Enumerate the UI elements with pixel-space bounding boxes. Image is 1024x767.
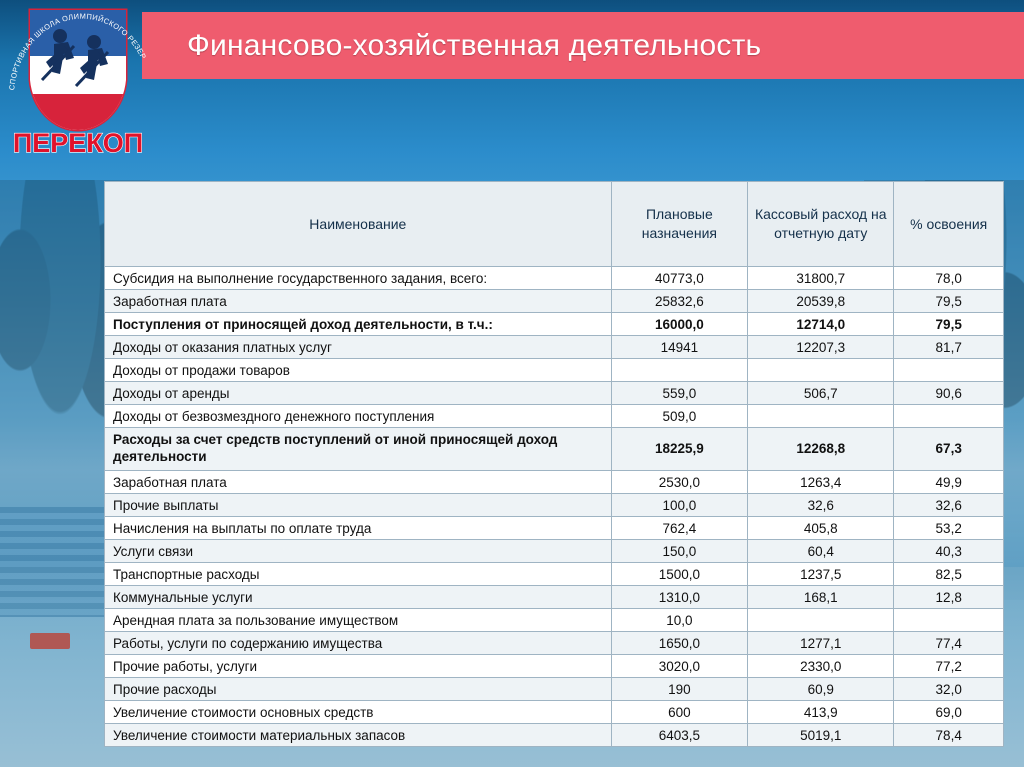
table-cell-plan: 2530,0 (611, 471, 747, 494)
column-header-name: Наименование (105, 182, 612, 267)
table-cell-name: Увеличение стоимости материальных запасо… (105, 724, 612, 747)
table-cell-pct (894, 359, 1004, 382)
table-cell-name: Увеличение стоимости основных средств (105, 701, 612, 724)
table-row: Прочие выплаты100,032,632,6 (105, 494, 1004, 517)
table-row: Арендная плата за пользование имуществом… (105, 609, 1004, 632)
table-cell-cash: 2330,0 (748, 655, 894, 678)
table-head: Наименование Плановые назначения Кассовы… (105, 182, 1004, 267)
table-cell-pct: 32,6 (894, 494, 1004, 517)
table-cell-name: Доходы от продажи товаров (105, 359, 612, 382)
table-cell-name: Расходы за счет средств поступлений от и… (105, 428, 612, 471)
table-row: Субсидия на выполнение государственного … (105, 267, 1004, 290)
table-cell-plan: 3020,0 (611, 655, 747, 678)
page-title: Финансово-хозяйственная деятельность (187, 29, 761, 63)
table-cell-plan: 18225,9 (611, 428, 747, 471)
table-row: Начисления на выплаты по оплате труда762… (105, 517, 1004, 540)
table-cell-name: Прочие выплаты (105, 494, 612, 517)
table-cell-name: Доходы от аренды (105, 382, 612, 405)
table-cell-pct: 81,7 (894, 336, 1004, 359)
logo-name-text: ПЕРЕКОП (13, 128, 143, 158)
table-cell-plan: 16000,0 (611, 313, 747, 336)
table-cell-cash: 31800,7 (748, 267, 894, 290)
table-cell-name: Заработная плата (105, 290, 612, 313)
table-cell-plan: 1650,0 (611, 632, 747, 655)
table-cell-pct (894, 609, 1004, 632)
table-cell-pct: 67,3 (894, 428, 1004, 471)
table-row: Увеличение стоимости материальных запасо… (105, 724, 1004, 747)
table-header-row: Наименование Плановые назначения Кассовы… (105, 182, 1004, 267)
table-row: Доходы от аренды559,0506,790,6 (105, 382, 1004, 405)
table-cell-pct: 79,5 (894, 313, 1004, 336)
table-cell-pct: 12,8 (894, 586, 1004, 609)
table-cell-plan: 150,0 (611, 540, 747, 563)
table-cell-name: Доходы от безвозмездного денежного посту… (105, 405, 612, 428)
financial-activity-table: Наименование Плановые назначения Кассовы… (104, 181, 1004, 747)
table-cell-name: Доходы от оказания платных услуг (105, 336, 612, 359)
table-cell-plan: 559,0 (611, 382, 747, 405)
table-row: Поступления от приносящей доход деятельн… (105, 313, 1004, 336)
table-cell-pct: 32,0 (894, 678, 1004, 701)
table-row: Заработная плата2530,01263,449,9 (105, 471, 1004, 494)
table-cell-plan: 10,0 (611, 609, 747, 632)
table-cell-pct: 40,3 (894, 540, 1004, 563)
table-cell-plan: 6403,5 (611, 724, 747, 747)
table-row: Услуги связи150,060,440,3 (105, 540, 1004, 563)
financial-table-container: Наименование Плановые назначения Кассовы… (104, 181, 1004, 747)
table-row: Увеличение стоимости основных средств600… (105, 701, 1004, 724)
table-cell-cash (748, 609, 894, 632)
organization-logo: СПОРТИВНАЯ ШКОЛА ОЛИМПИЙСКОГО РЕЗЕРВА ПЕ… (2, 2, 152, 174)
column-header-plan: Плановые назначения (611, 182, 747, 267)
table-row: Доходы от продажи товаров (105, 359, 1004, 382)
table-cell-cash: 32,6 (748, 494, 894, 517)
table-cell-pct: 82,5 (894, 563, 1004, 586)
table-cell-pct: 90,6 (894, 382, 1004, 405)
column-header-percent: % освоения (894, 182, 1004, 267)
table-cell-plan: 14941 (611, 336, 747, 359)
table-cell-cash: 413,9 (748, 701, 894, 724)
table-row: Доходы от оказания платных услуг14941122… (105, 336, 1004, 359)
table-cell-name: Услуги связи (105, 540, 612, 563)
table-cell-cash: 1263,4 (748, 471, 894, 494)
table-cell-name: Транспортные расходы (105, 563, 612, 586)
table-cell-cash: 20539,8 (748, 290, 894, 313)
column-header-cash: Кассовый расход на отчетную дату (748, 182, 894, 267)
table-cell-pct: 53,2 (894, 517, 1004, 540)
table-row: Заработная плата25832,620539,879,5 (105, 290, 1004, 313)
table-cell-cash: 1237,5 (748, 563, 894, 586)
table-cell-name: Начисления на выплаты по оплате труда (105, 517, 612, 540)
table-cell-pct: 78,4 (894, 724, 1004, 747)
table-cell-pct (894, 405, 1004, 428)
table-cell-plan: 509,0 (611, 405, 747, 428)
table-cell-cash (748, 405, 894, 428)
table-cell-name: Коммунальные услуги (105, 586, 612, 609)
background-marker-left (30, 633, 70, 649)
table-cell-cash: 60,4 (748, 540, 894, 563)
table-cell-cash: 405,8 (748, 517, 894, 540)
table-cell-cash: 12714,0 (748, 313, 894, 336)
table-cell-pct: 78,0 (894, 267, 1004, 290)
table-cell-plan: 190 (611, 678, 747, 701)
slide-header-bar: Финансово-хозяйственная деятельность (142, 12, 1024, 79)
table-row: Прочие расходы19060,932,0 (105, 678, 1004, 701)
table-cell-pct: 49,9 (894, 471, 1004, 494)
table-cell-pct: 69,0 (894, 701, 1004, 724)
table-row: Расходы за счет средств поступлений от и… (105, 428, 1004, 471)
table-cell-name: Арендная плата за пользование имуществом (105, 609, 612, 632)
table-cell-cash: 1277,1 (748, 632, 894, 655)
table-cell-name: Заработная плата (105, 471, 612, 494)
table-cell-pct: 77,2 (894, 655, 1004, 678)
table-cell-plan: 40773,0 (611, 267, 747, 290)
table-cell-cash (748, 359, 894, 382)
table-cell-name: Работы, услуги по содержанию имущества (105, 632, 612, 655)
table-cell-cash: 12207,3 (748, 336, 894, 359)
table-row: Коммунальные услуги1310,0168,112,8 (105, 586, 1004, 609)
table-cell-plan: 100,0 (611, 494, 747, 517)
table-cell-plan (611, 359, 747, 382)
table-row: Прочие работы, услуги3020,02330,077,2 (105, 655, 1004, 678)
table-cell-plan: 600 (611, 701, 747, 724)
table-cell-pct: 79,5 (894, 290, 1004, 313)
table-cell-name: Субсидия на выполнение государственного … (105, 267, 612, 290)
table-cell-cash: 506,7 (748, 382, 894, 405)
table-row: Транспортные расходы1500,01237,582,5 (105, 563, 1004, 586)
table-cell-cash: 168,1 (748, 586, 894, 609)
table-cell-cash: 60,9 (748, 678, 894, 701)
table-body: Субсидия на выполнение государственного … (105, 267, 1004, 747)
table-cell-plan: 25832,6 (611, 290, 747, 313)
table-cell-cash: 5019,1 (748, 724, 894, 747)
table-cell-plan: 1310,0 (611, 586, 747, 609)
table-row: Доходы от безвозмездного денежного посту… (105, 405, 1004, 428)
table-cell-name: Поступления от приносящей доход деятельн… (105, 313, 612, 336)
table-row: Работы, услуги по содержанию имущества16… (105, 632, 1004, 655)
biathlon-shooter-icon: СПОРТИВНАЯ ШКОЛА ОЛИМПИЙСКОГО РЕЗЕРВА ПЕ… (2, 2, 152, 174)
table-cell-name: Прочие расходы (105, 678, 612, 701)
table-cell-plan: 762,4 (611, 517, 747, 540)
table-cell-plan: 1500,0 (611, 563, 747, 586)
table-cell-name: Прочие работы, услуги (105, 655, 612, 678)
table-cell-pct: 77,4 (894, 632, 1004, 655)
table-cell-cash: 12268,8 (748, 428, 894, 471)
